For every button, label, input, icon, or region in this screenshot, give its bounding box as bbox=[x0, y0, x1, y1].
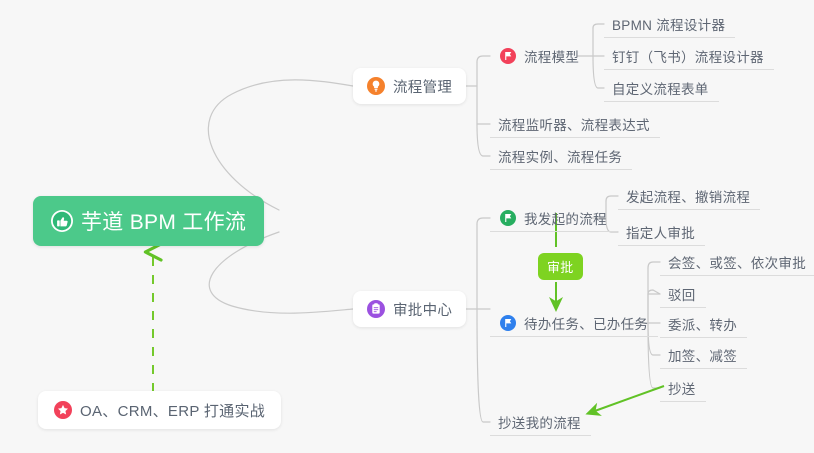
node-label: 自定义流程表单 bbox=[612, 78, 709, 98]
node-label: 钉钉（飞书）流程设计器 bbox=[612, 46, 764, 66]
root-label: 芋道 BPM 工作流 bbox=[81, 206, 246, 236]
node-label: 加签、减签 bbox=[668, 345, 737, 365]
mindmap-canvas[interactable]: 芋道 BPM 工作流 流程管理 流程模型 BPMN 流程设计器 钉钉（飞书）流程… bbox=[0, 0, 814, 453]
thumbs-up-icon bbox=[51, 210, 73, 232]
node-label: 抄送 bbox=[668, 378, 696, 398]
node-label: 流程实例、流程任务 bbox=[498, 146, 622, 166]
branch-label: 流程管理 bbox=[393, 76, 452, 97]
root-node[interactable]: 芋道 BPM 工作流 bbox=[33, 196, 264, 246]
node-custom-process-form[interactable]: 自定义流程表单 bbox=[604, 74, 719, 102]
node-assignee-approval[interactable]: 指定人审批 bbox=[618, 218, 705, 246]
node-cc-to-me-process[interactable]: 抄送我的流程 bbox=[490, 408, 591, 436]
node-label: 发起流程、撤销流程 bbox=[626, 186, 750, 206]
node-label: 委派、转办 bbox=[668, 314, 737, 334]
node-label: 流程监听器、流程表达式 bbox=[498, 114, 650, 134]
node-label: 指定人审批 bbox=[626, 222, 695, 242]
node-label: BPMN 流程设计器 bbox=[612, 14, 725, 34]
clipboard-icon bbox=[367, 300, 385, 318]
star-icon bbox=[54, 401, 72, 419]
node-label: 抄送我的流程 bbox=[498, 412, 581, 432]
node-todo-done-tasks[interactable]: 待办任务、已办任务 bbox=[490, 309, 658, 337]
node-counter-or-sequential-sign[interactable]: 会签、或签、依次审批 bbox=[660, 248, 814, 276]
note-label: OA、CRM、ERP 打通实战 bbox=[80, 400, 265, 421]
node-label: 待办任务、已办任务 bbox=[524, 313, 648, 333]
node-label: 驳回 bbox=[668, 284, 696, 304]
node-label: 我发起的流程 bbox=[524, 208, 607, 228]
node-bpmn-designer[interactable]: BPMN 流程设计器 bbox=[604, 10, 735, 38]
node-dingtalk-feishu-designer[interactable]: 钉钉（飞书）流程设计器 bbox=[604, 42, 774, 70]
annotation-label: 审批 bbox=[547, 257, 574, 276]
node-add-remove-sign[interactable]: 加签、减签 bbox=[660, 341, 747, 369]
branch-approval-center[interactable]: 审批中心 bbox=[353, 291, 466, 327]
annotation-approval-tag[interactable]: 审批 bbox=[538, 253, 583, 280]
branch-label: 审批中心 bbox=[393, 299, 452, 320]
flag-icon bbox=[500, 210, 516, 226]
node-reject[interactable]: 驳回 bbox=[660, 280, 706, 308]
node-process-instance-task[interactable]: 流程实例、流程任务 bbox=[490, 142, 632, 170]
node-my-initiated-process[interactable]: 我发起的流程 bbox=[490, 204, 617, 232]
branch-process-management[interactable]: 流程管理 bbox=[353, 68, 466, 104]
node-process-listener-expression[interactable]: 流程监听器、流程表达式 bbox=[490, 110, 660, 138]
node-label: 会签、或签、依次审批 bbox=[668, 252, 806, 272]
node-delegate-transfer[interactable]: 委派、转办 bbox=[660, 310, 747, 338]
flag-icon bbox=[500, 315, 516, 331]
lightbulb-icon bbox=[367, 77, 385, 95]
node-label: 流程模型 bbox=[524, 46, 579, 66]
node-start-cancel-process[interactable]: 发起流程、撤销流程 bbox=[618, 182, 760, 210]
node-process-model[interactable]: 流程模型 bbox=[490, 42, 589, 70]
node-cc[interactable]: 抄送 bbox=[660, 374, 706, 402]
note-integration-practice[interactable]: OA、CRM、ERP 打通实战 bbox=[38, 391, 281, 429]
flag-icon bbox=[500, 48, 516, 64]
